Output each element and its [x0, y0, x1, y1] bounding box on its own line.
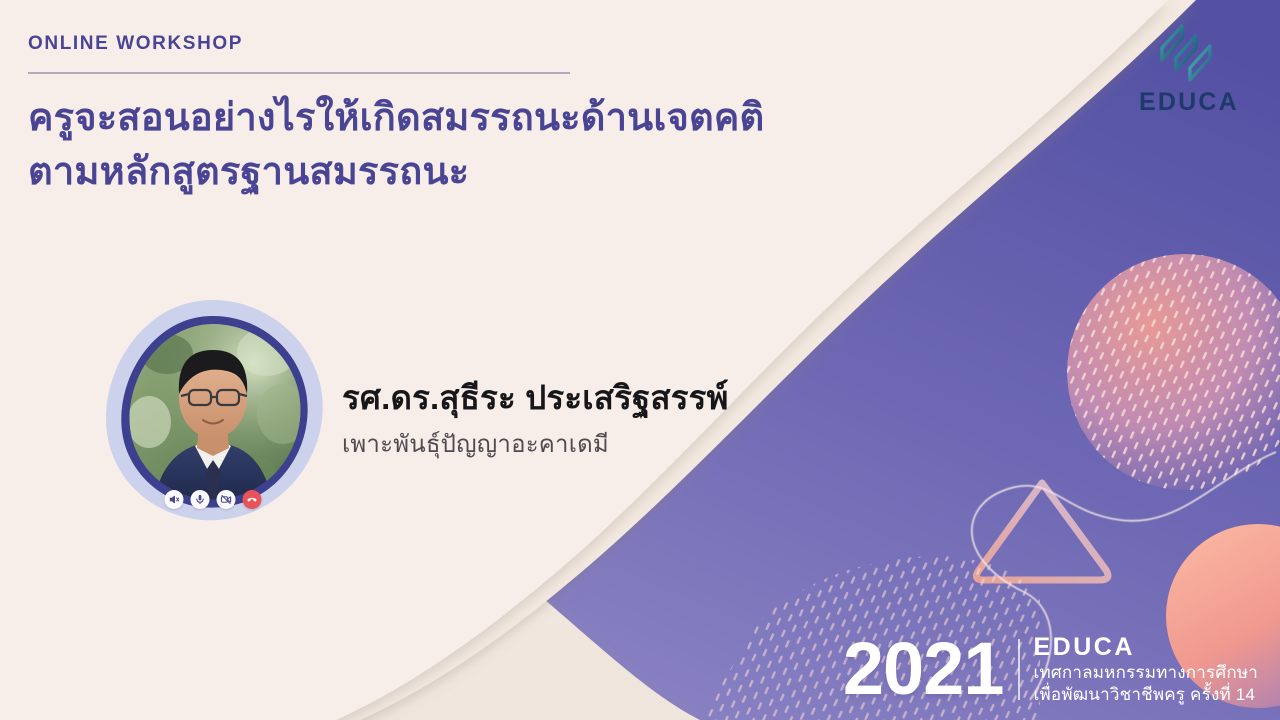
event-brand-text: EDUCA เทศกาลมหกรรมทางการศึกษา เพื่อพัฒนา… — [1034, 633, 1259, 706]
end-call-icon[interactable] — [243, 490, 262, 509]
speaker-mute-icon[interactable] — [165, 490, 184, 509]
event-branding: 2021 EDUCA เทศกาลมหกรรมทางการศึกษา เพื่อ… — [843, 633, 1258, 706]
video-camera-off-icon[interactable] — [217, 490, 236, 509]
page-title-line-2: ตามหลักสูตรฐานสมรรถนะ — [28, 146, 868, 200]
event-year: 2021 — [843, 635, 1004, 703]
educa-logo: EDUCA — [1126, 18, 1252, 117]
brand-divider — [1018, 639, 1020, 700]
page-title: ครูจะสอนอย่างไรให้เกิดสมรรถนะด้านเจตคติ … — [28, 92, 868, 200]
workshop-slide: ONLINE WORKSHOP ครูจะสอนอย่างไรให้เกิดสม… — [0, 0, 1280, 720]
event-brand-name: EDUCA — [1034, 633, 1259, 662]
eyebrow-label: ONLINE WORKSHOP — [28, 33, 243, 55]
event-tagline-line-2: เพื่อพัฒนาวิชาชีพครู ครั้งที่ 14 — [1034, 684, 1259, 706]
event-tagline-line-1: เทศกาลมหกรรมทางการศึกษา — [1034, 662, 1259, 684]
speaker-avatar — [97, 294, 329, 526]
microphone-icon[interactable] — [191, 490, 210, 509]
speaker-organization: เพาะพันธุ์ปัญญาอะคาเดมี — [342, 424, 609, 463]
header-divider — [28, 72, 570, 74]
page-title-line-1: ครูจะสอนอย่างไรให้เกิดสมรรถนะด้านเจตคติ — [28, 92, 868, 146]
educa-chevron-mark — [1152, 18, 1226, 84]
speaker-name: รศ.ดร.สุธีระ ประเสริฐสรรพ์ — [342, 371, 729, 424]
call-controls[interactable] — [165, 490, 262, 509]
educa-wordmark: EDUCA — [1126, 88, 1252, 117]
